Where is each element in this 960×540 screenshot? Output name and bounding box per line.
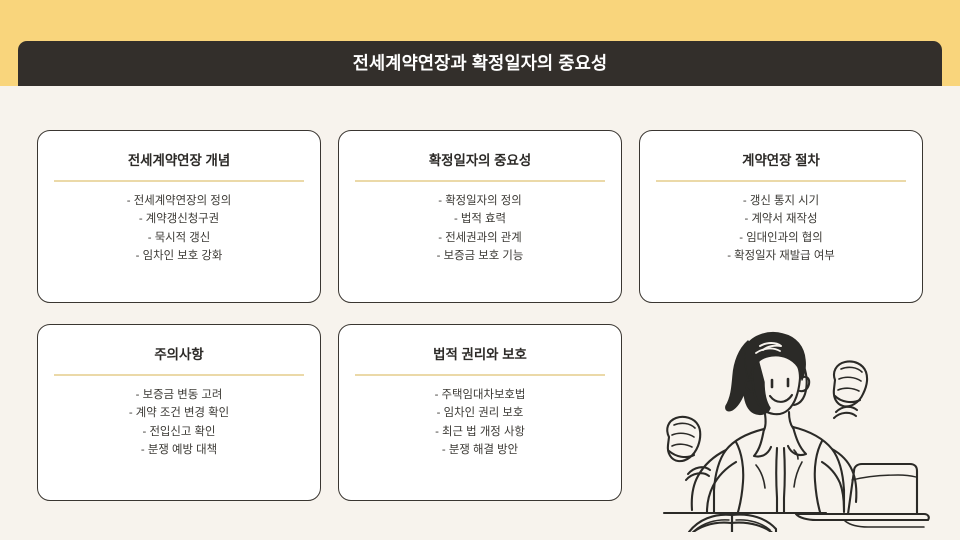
laptop-base-shadow xyxy=(845,521,924,527)
list-item: - 전세권과의 관계 xyxy=(355,229,605,247)
list-item: - 계약갱신청구권 xyxy=(54,210,304,228)
collar-right xyxy=(788,427,806,455)
card-list: - 주택임대차보호법 - 임차인 권리 보호 - 최근 법 개정 사항 - 분쟁… xyxy=(355,386,605,460)
list-item: - 임차인 권리 보호 xyxy=(355,404,605,422)
cuff-right-2 xyxy=(834,413,856,418)
card-list: - 보증금 변동 고려 - 계약 조건 변경 확인 - 전입신고 확인 - 분쟁… xyxy=(54,386,304,460)
list-item: - 분쟁 예방 대책 xyxy=(54,441,304,459)
card-procedure: 계약연장 절차 - 갱신 통지 시기 - 계약서 재작성 - 임대인과의 협의 … xyxy=(639,130,923,303)
mouth-smile xyxy=(770,395,792,402)
shirt-seam-left xyxy=(736,442,743,512)
list-item: - 주택임대차보호법 xyxy=(355,386,605,404)
list-item: - 보증금 보호 기능 xyxy=(355,247,605,265)
shirt-placket-2 xyxy=(784,448,785,512)
laptop-screen-glare xyxy=(852,475,916,480)
shirt-left-side xyxy=(714,429,764,512)
neck-left xyxy=(764,414,766,430)
card-importance: 확정일자의 중요성 - 확정일자의 정의 - 법적 효력 - 전세권과의 관계 … xyxy=(338,130,622,303)
list-item: - 계약서 재작성 xyxy=(656,210,906,228)
list-item: - 갱신 통지 시기 xyxy=(656,192,906,210)
card-divider xyxy=(355,180,605,182)
list-item: - 최근 법 개정 사항 xyxy=(355,423,605,441)
fist-left-knuckle-1 xyxy=(674,423,695,428)
list-item: - 전세계약연장의 정의 xyxy=(54,192,304,210)
list-item: - 보증금 변동 고려 xyxy=(54,386,304,404)
card-divider xyxy=(656,180,906,182)
card-list: - 갱신 통지 시기 - 계약서 재작성 - 임대인과의 협의 - 확정일자 재… xyxy=(656,192,906,266)
page-title: 전세계약연장과 확정일자의 중요성 xyxy=(353,55,608,73)
card-title: 주의사항 xyxy=(154,347,203,363)
card-divider xyxy=(355,374,605,376)
list-item: - 분쟁 해결 방안 xyxy=(355,441,605,459)
shirt-seam-right xyxy=(815,441,822,512)
slide-title-bar: 전세계약연장과 확정일자의 중요성 xyxy=(18,41,942,86)
arm-left-inner xyxy=(707,462,736,512)
shirt-right-side xyxy=(793,427,844,512)
card-cautions: 주의사항 - 보증금 변동 고려 - 계약 조건 변경 확인 - 전입신고 확인… xyxy=(37,324,321,501)
list-item: - 전입신고 확인 xyxy=(54,423,304,441)
woman-celebrating-at-desk-illustration xyxy=(636,322,956,532)
list-item: - 임대인과의 협의 xyxy=(656,229,906,247)
slide-root: 전세계약연장과 확정일자의 중요성 전세계약연장 개념 - 전세계약연장의 정의… xyxy=(0,0,960,540)
fist-right-knuckle-3 xyxy=(838,388,859,391)
laptop-base xyxy=(796,514,929,520)
fist-right-knuckle-1 xyxy=(841,367,862,372)
card-list: - 전세계약연장의 정의 - 계약갱신청구권 - 묵시적 갱신 - 임차인 보호… xyxy=(54,192,304,266)
fist-right-wrist xyxy=(835,396,860,402)
laptop-screen xyxy=(848,464,917,514)
shirt-fold-left xyxy=(756,465,765,488)
cuff-right xyxy=(836,407,857,412)
card-legal-rights: 법적 권리와 보호 - 주택임대차보호법 - 임차인 권리 보호 - 최근 법 … xyxy=(338,324,622,501)
card-divider xyxy=(54,374,304,376)
card-title: 계약연장 절차 xyxy=(742,153,820,169)
list-item: - 묵시적 갱신 xyxy=(54,229,304,247)
card-divider xyxy=(54,180,304,182)
card-title: 법적 권리와 보호 xyxy=(433,347,527,363)
list-item: - 법적 효력 xyxy=(355,210,605,228)
fist-left-knuckle-3 xyxy=(672,444,692,447)
shirt-fold-right xyxy=(794,462,802,487)
ear-right xyxy=(800,377,809,391)
fist-right-knuckle-2 xyxy=(839,377,861,381)
list-item: - 확정일자 재발급 여부 xyxy=(656,247,906,265)
list-item: - 임차인 보호 강화 xyxy=(54,247,304,265)
shirt-placket xyxy=(776,448,777,512)
list-item: - 계약 조건 변경 확인 xyxy=(54,404,304,422)
list-item: - 확정일자의 정의 xyxy=(355,192,605,210)
fist-left-wrist xyxy=(669,451,694,457)
card-list: - 확정일자의 정의 - 법적 효력 - 전세권과의 관계 - 보증금 보호 기… xyxy=(355,192,605,266)
card-title: 전세계약연장 개념 xyxy=(128,153,230,169)
fist-left-knuckle-2 xyxy=(672,433,694,437)
card-title: 확정일자의 중요성 xyxy=(429,153,531,169)
collar-left xyxy=(754,429,771,457)
card-concept: 전세계약연장 개념 - 전세계약연장의 정의 - 계약갱신청구권 - 묵시적 갱… xyxy=(37,130,321,303)
neck-right xyxy=(789,412,793,428)
